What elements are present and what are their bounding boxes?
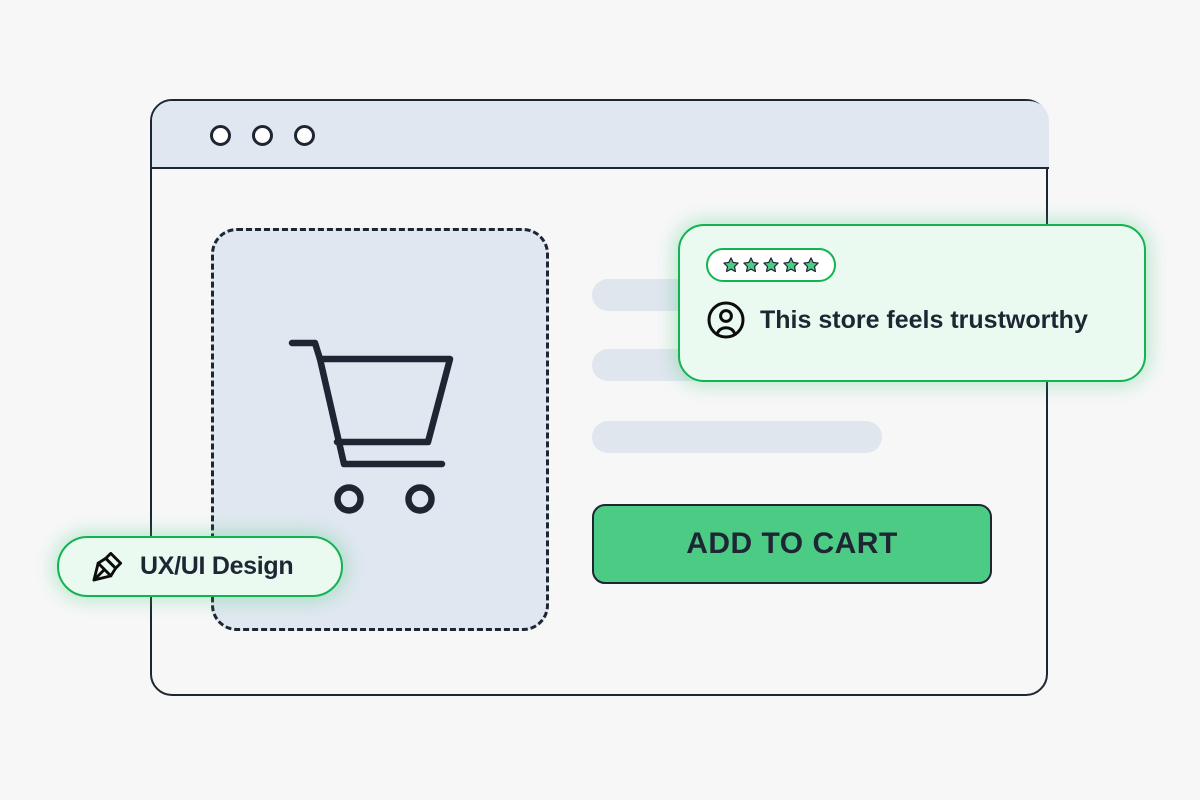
- star-rating-badge: [706, 248, 836, 282]
- ux-ui-design-chip[interactable]: UX/UI Design: [57, 536, 343, 597]
- review-card: This store feels trustworthy: [678, 224, 1146, 382]
- browser-title-bar: [152, 101, 1049, 169]
- window-dot-close[interactable]: [210, 125, 231, 146]
- window-controls: [210, 125, 315, 146]
- star-icon: [802, 256, 820, 274]
- product-description-skeleton: [592, 421, 882, 453]
- add-to-cart-button[interactable]: ADD TO CART: [592, 504, 992, 584]
- star-icon: [722, 256, 740, 274]
- window-dot-minimize[interactable]: [252, 125, 273, 146]
- canvas: ADD TO CART: [0, 0, 1200, 800]
- review-body: This store feels trustworthy: [706, 300, 1118, 340]
- user-avatar-icon: [706, 300, 746, 340]
- review-text: This store feels trustworthy: [760, 306, 1088, 335]
- star-icon: [782, 256, 800, 274]
- star-icon: [742, 256, 760, 274]
- star-icon: [762, 256, 780, 274]
- shopping-cart-icon: [287, 337, 473, 523]
- browser-window: ADD TO CART: [150, 99, 1048, 696]
- ux-ui-design-label: UX/UI Design: [140, 552, 293, 581]
- paintbrush-icon: [89, 548, 126, 585]
- window-dot-maximize[interactable]: [294, 125, 315, 146]
